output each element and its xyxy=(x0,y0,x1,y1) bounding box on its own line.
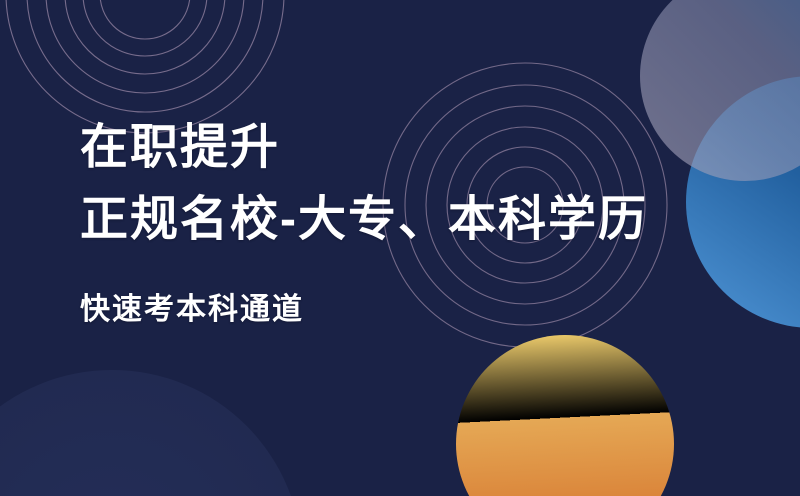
soft-navy-circle xyxy=(0,370,302,496)
blue-circle xyxy=(686,76,800,328)
haze-circle xyxy=(640,0,800,181)
orange-circle xyxy=(456,335,674,496)
banner-copy: 在职提升 正规名校-大专、本科学历 快速考本科通道 xyxy=(80,112,648,332)
headline-line-1: 在职提升 xyxy=(80,112,648,184)
headline-line-2: 正规名校-大专、本科学历 xyxy=(80,184,648,256)
banner-subtitle: 快速考本科通道 xyxy=(80,288,648,332)
promo-banner: 在职提升 正规名校-大专、本科学历 快速考本科通道 xyxy=(0,0,800,496)
